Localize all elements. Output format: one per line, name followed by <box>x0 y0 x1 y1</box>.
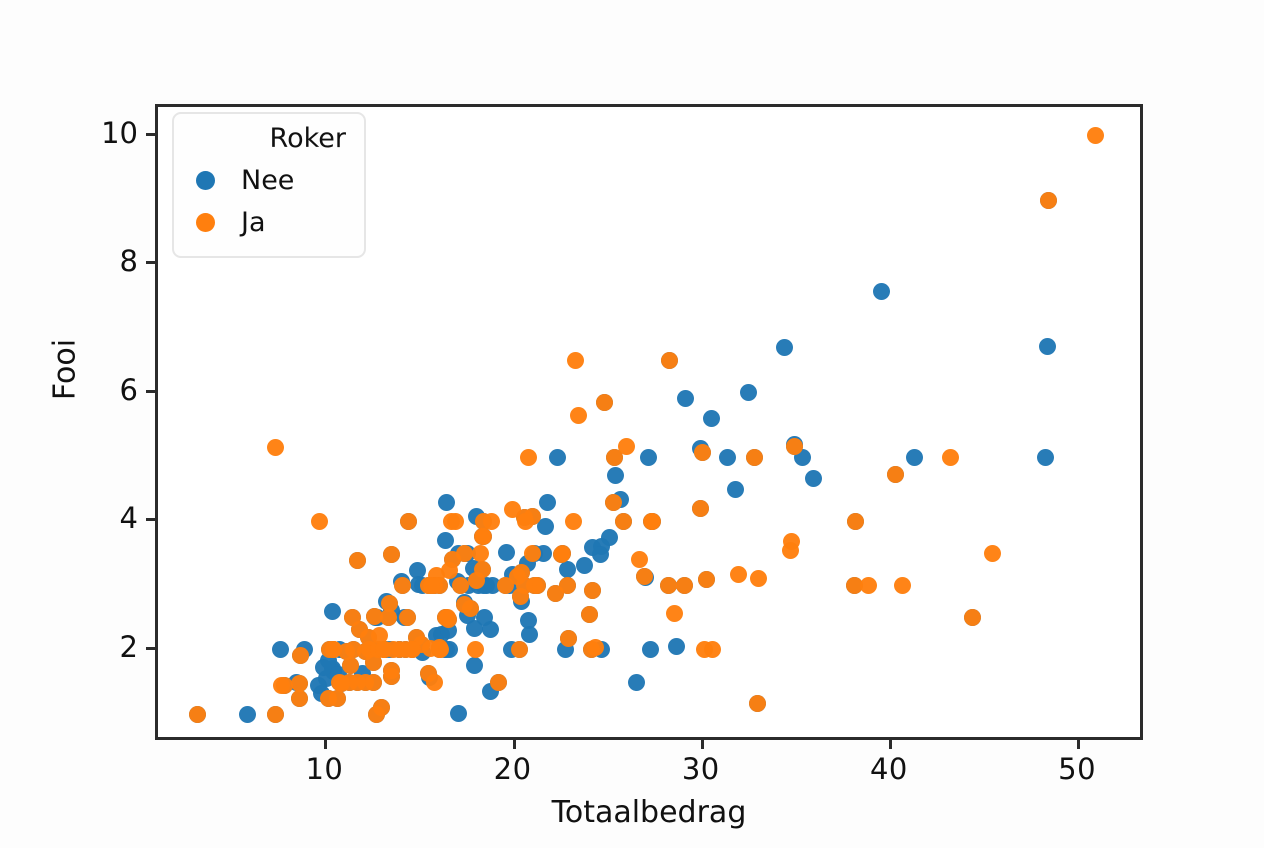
scatter-point-ja <box>570 407 587 424</box>
scatter-point-ja <box>894 577 911 594</box>
scatter-point-ja <box>631 551 648 568</box>
scatter-point-nee <box>438 494 455 511</box>
scatter-point-nee <box>805 470 822 487</box>
x-tick-label: 50 <box>1058 752 1096 786</box>
x-tick-mark <box>1077 740 1080 749</box>
scatter-point-ja <box>399 609 416 626</box>
scatter-point-ja <box>443 513 460 530</box>
scatter-point-ja <box>360 629 377 646</box>
y-tick-label: 10 <box>101 116 138 150</box>
scatter-point-ja <box>426 674 443 691</box>
scatter-point-ja <box>292 647 309 664</box>
legend-label-ja: Ja <box>241 209 266 236</box>
scatter-point-ja <box>698 571 715 588</box>
scatter-point-ja <box>349 674 366 691</box>
x-tick-label: 40 <box>870 752 908 786</box>
scatter-point-ja <box>516 577 533 594</box>
x-tick-mark <box>889 740 892 749</box>
scatter-point-nee <box>906 449 923 466</box>
scatter-point-ja <box>276 677 293 694</box>
scatter-point-ja <box>860 577 877 594</box>
scatter-point-nee <box>776 339 793 356</box>
scatter-point-nee <box>576 557 593 574</box>
scatter-point-ja <box>887 466 904 483</box>
scatter-point-nee <box>450 705 467 722</box>
scatter-point-ja <box>437 609 454 626</box>
scatter-point-ja <box>847 513 864 530</box>
scatter-point-nee <box>521 626 538 643</box>
scatter-point-nee <box>703 410 720 427</box>
scatter-point-ja <box>567 352 584 369</box>
x-tick-label: 20 <box>494 752 532 786</box>
scatter-point-nee <box>482 621 499 638</box>
scatter-point-nee <box>437 532 454 549</box>
legend-marker-ja-icon <box>196 213 215 232</box>
scatter-point-ja <box>311 513 328 530</box>
scatter-point-ja <box>661 352 678 369</box>
scatter-point-nee <box>239 706 256 723</box>
scatter-point-nee <box>607 467 624 484</box>
scatter-point-nee <box>640 449 657 466</box>
y-tick-mark <box>146 261 155 264</box>
scatter-point-nee <box>628 674 645 691</box>
scatter-point-ja <box>676 577 693 594</box>
scatter-point-ja <box>581 606 598 623</box>
scatter-point-ja <box>524 545 541 562</box>
legend-item-nee[interactable]: Nee <box>188 160 350 202</box>
scatter-point-ja <box>441 562 458 579</box>
x-tick-mark <box>513 740 516 749</box>
scatter-point-ja <box>520 449 537 466</box>
scatter-point-ja <box>749 695 766 712</box>
scatter-point-ja <box>422 640 439 657</box>
scatter-point-ja <box>1087 127 1104 144</box>
scatter-point-nee <box>727 481 744 498</box>
y-tick-mark <box>146 390 155 393</box>
scatter-point-nee <box>677 390 694 407</box>
scatter-point-nee <box>549 449 566 466</box>
scatter-point-nee <box>1037 449 1054 466</box>
scatter-point-ja <box>517 513 534 530</box>
scatter-point-ja <box>383 668 400 685</box>
x-tick-mark <box>324 740 327 749</box>
scatter-point-ja <box>383 546 400 563</box>
scatter-point-ja <box>474 561 491 578</box>
scatter-point-nee <box>539 494 556 511</box>
x-tick-label: 30 <box>682 752 720 786</box>
x-axis-label: Totaalbedrag <box>155 795 1143 830</box>
x-tick-mark <box>701 740 704 749</box>
scatter-point-ja <box>490 674 507 691</box>
scatter-point-ja <box>547 585 564 602</box>
scatter-point-ja <box>472 545 489 562</box>
scatter-point-ja <box>660 577 677 594</box>
scatter-point-ja <box>349 552 366 569</box>
legend-label-nee: Nee <box>241 167 294 194</box>
scatter-point-ja <box>321 641 338 658</box>
scatter-point-ja <box>746 449 763 466</box>
scatter-point-ja <box>511 641 528 658</box>
y-axis-label: Fooi <box>48 250 83 490</box>
y-tick-mark <box>146 133 155 136</box>
scatter-point-ja <box>730 566 747 583</box>
legend-item-ja[interactable]: Ja <box>188 202 350 244</box>
scatter-point-ja <box>452 577 469 594</box>
scatter-point-ja <box>267 706 284 723</box>
scatter-point-ja <box>368 706 385 723</box>
scatter-point-ja <box>666 605 683 622</box>
scatter-point-ja <box>750 570 767 587</box>
scatter-point-ja <box>291 690 308 707</box>
scatter-point-ja <box>394 577 411 594</box>
scatter-point-ja <box>984 545 1001 562</box>
scatter-point-ja <box>964 609 981 626</box>
scatter-point-nee <box>324 603 341 620</box>
x-tick-label: 10 <box>305 752 343 786</box>
scatter-point-ja <box>565 513 582 530</box>
scatter-point-ja <box>1040 192 1057 209</box>
scatter-point-ja <box>467 641 484 658</box>
scatter-point-ja <box>381 595 398 612</box>
scatter-point-ja <box>605 494 622 511</box>
scatter-point-ja <box>596 394 613 411</box>
scatter-point-ja <box>189 706 206 723</box>
scatter-point-nee <box>668 638 685 655</box>
scatter-point-ja <box>553 546 570 563</box>
scatter-point-ja <box>644 513 661 530</box>
scatter-point-ja <box>320 690 337 707</box>
scatter-point-nee <box>272 641 289 658</box>
scatter-point-nee <box>592 546 609 563</box>
scatter-point-ja <box>786 438 803 455</box>
scatter-point-nee <box>601 529 618 546</box>
scatter-point-nee <box>740 384 757 401</box>
legend-marker-nee-icon <box>196 171 215 190</box>
scatter-point-ja <box>423 577 440 594</box>
y-tick-label: 2 <box>120 630 138 664</box>
scatter-point-ja <box>365 674 382 691</box>
scatter-point-ja <box>584 582 601 599</box>
scatter-point-ja <box>345 641 362 658</box>
y-tick-mark <box>146 518 155 521</box>
scatter-point-ja <box>615 513 632 530</box>
scatter-point-ja <box>497 577 514 594</box>
scatter-point-nee <box>498 544 515 561</box>
scatter-point-ja <box>942 449 959 466</box>
y-tick-mark <box>146 647 155 650</box>
scatter-point-ja <box>456 596 473 613</box>
scatter-point-ja <box>560 630 577 647</box>
scatter-point-nee <box>466 657 483 674</box>
scatter-point-ja <box>267 439 284 456</box>
figure-canvas: Roker Nee Ja 1020304050 246810 Totaalbed… <box>0 0 1264 848</box>
scatter-point-nee <box>559 561 576 578</box>
y-tick-label: 4 <box>120 501 138 535</box>
y-tick-label: 6 <box>120 373 138 407</box>
y-tick-label: 8 <box>120 244 138 278</box>
scatter-point-nee <box>1039 338 1056 355</box>
scatter-point-ja <box>483 513 500 530</box>
legend-box: Roker Nee Ja <box>172 112 366 258</box>
scatter-point-ja <box>694 444 711 461</box>
scatter-point-ja <box>583 641 600 658</box>
scatter-point-nee <box>719 449 736 466</box>
scatter-point-nee <box>642 641 659 658</box>
scatter-point-ja <box>400 513 417 530</box>
scatter-point-ja <box>692 500 709 517</box>
scatter-point-ja <box>618 438 635 455</box>
legend-title: Roker <box>188 122 350 156</box>
scatter-point-nee <box>873 283 890 300</box>
